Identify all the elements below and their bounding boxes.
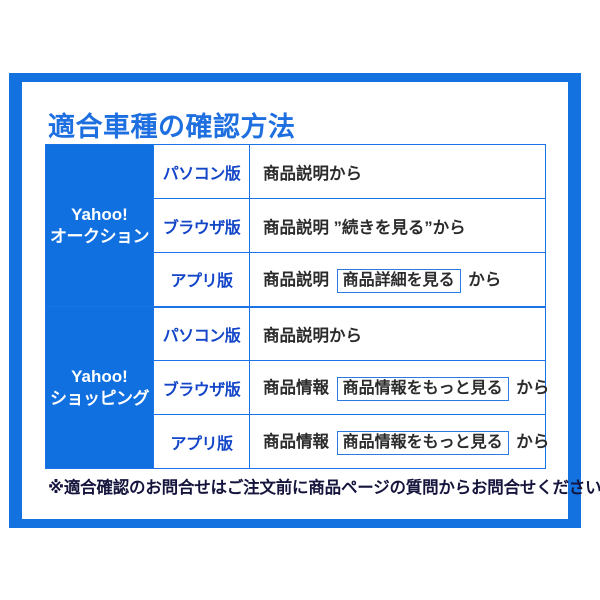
kind-cell: パソコン版: [154, 145, 250, 199]
kind-cell: パソコン版: [154, 307, 250, 361]
desc-suffix: から: [516, 433, 549, 451]
brand-cell-auction: Yahoo! オークション: [46, 145, 154, 307]
brand-cell-shopping: Yahoo! ショッピング: [46, 307, 154, 469]
ui-button-reference[interactable]: 商品情報をもっと見る: [337, 431, 509, 455]
desc-cell: 商品情報 商品情報をもっと見る から: [250, 361, 546, 415]
desc-cell: 商品説明から: [250, 145, 546, 199]
desc-suffix: から: [468, 271, 501, 289]
page-root: 適合車種の確認方法 Yahoo! オークション パソコン版: [0, 0, 600, 600]
kind-cell: アプリ版: [154, 415, 250, 469]
brand-name-line1: Yahoo!: [46, 204, 153, 225]
desc-cell: 商品説明から: [250, 307, 546, 361]
desc-prefix: 商品説明 ”続きを見る”から: [263, 219, 466, 237]
blue-frame: 適合車種の確認方法 Yahoo! オークション パソコン版: [9, 73, 581, 528]
kind-cell: ブラウザ版: [154, 361, 250, 415]
footer-note: ※適合確認のお問合せはご注文前に商品ページの質問からお問合せください。: [48, 474, 600, 498]
compatibility-table: Yahoo! オークション パソコン版 商品説明から ブラウザ版 商品説明 ”続…: [45, 144, 546, 469]
brand-name-line2: ショッピング: [46, 388, 153, 409]
desc-prefix: 商品説明から: [263, 327, 362, 345]
desc-cell: 商品説明 商品詳細を見る から: [250, 253, 546, 307]
desc-prefix: 商品説明から: [263, 165, 362, 183]
desc-cell: 商品情報 商品情報をもっと見る から: [250, 415, 546, 469]
ui-button-reference[interactable]: 商品情報をもっと見る: [337, 377, 509, 401]
kind-cell: ブラウザ版: [154, 199, 250, 253]
desc-prefix: 商品情報: [263, 433, 329, 451]
brand-name-line2: オークション: [46, 226, 153, 247]
page-title: 適合車種の確認方法: [48, 105, 296, 144]
kind-cell: アプリ版: [154, 253, 250, 307]
desc-cell: 商品説明 ”続きを見る”から: [250, 199, 546, 253]
table-row: Yahoo! ショッピング パソコン版 商品説明から: [46, 307, 546, 361]
brand-name-line1: Yahoo!: [46, 366, 153, 387]
table-row: Yahoo! オークション パソコン版 商品説明から: [46, 145, 546, 199]
ui-button-reference[interactable]: 商品詳細を見る: [337, 269, 461, 293]
desc-prefix: 商品説明: [263, 271, 329, 289]
desc-prefix: 商品情報: [263, 379, 329, 397]
desc-suffix: から: [516, 379, 549, 397]
content-panel: 適合車種の確認方法 Yahoo! オークション パソコン版: [22, 82, 568, 519]
